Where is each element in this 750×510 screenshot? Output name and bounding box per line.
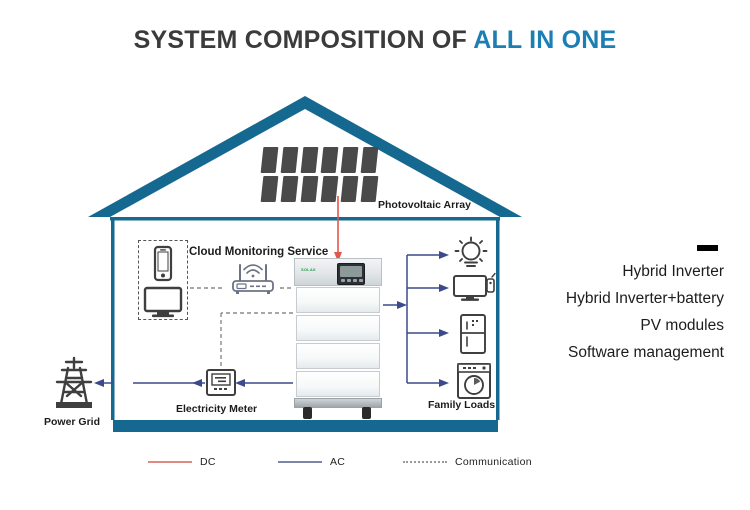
lcd-button[interactable] (347, 279, 351, 282)
monitor-icon (143, 286, 183, 318)
legend-swatch-dc (148, 461, 192, 463)
battery-module (296, 343, 380, 369)
legend-swatch-ac (278, 461, 322, 463)
ac-line-inverter-to-grid (94, 379, 293, 387)
caster-wheel (362, 407, 371, 419)
feature-list-item: Software management (464, 339, 724, 366)
feature-list-item: Hybrid Inverter (464, 258, 724, 285)
lcd-screen (340, 266, 362, 277)
pv-panel (321, 147, 339, 173)
pv-row-1 (262, 147, 387, 173)
pv-panel (281, 147, 299, 173)
house-and-wiring-layer (0, 0, 750, 510)
hybrid-inverter-battery-stack: SOLAX (294, 258, 382, 410)
legend-item-dc: DC (148, 452, 216, 472)
pv-panel (301, 147, 319, 173)
lcd-buttons (341, 279, 363, 282)
power-grid-label: Power Grid (44, 416, 100, 428)
pv-panel (361, 147, 379, 173)
house-floor (113, 420, 498, 432)
transmission-tower-icon (48, 356, 100, 412)
inverter-lcd-display (337, 263, 365, 285)
feature-list-item: Hybrid Inverter+battery (464, 285, 724, 312)
pv-panel (261, 176, 279, 202)
pv-panel (361, 176, 379, 202)
legend-label-dc: DC (200, 456, 216, 468)
battery-module (296, 371, 380, 397)
pv-row-2 (262, 176, 387, 202)
pv-panel (341, 176, 359, 202)
diagram-canvas: SYSTEM COMPOSITION OF ALL IN ONE (0, 0, 750, 510)
feature-list-item: PV modules (464, 312, 724, 339)
caster-wheel (303, 407, 312, 419)
legend-label-ac: AC (330, 456, 345, 468)
pv-panel (341, 147, 359, 173)
lcd-button[interactable] (353, 279, 357, 282)
house-ceiling (110, 217, 500, 221)
smartphone-icon (148, 246, 178, 282)
brand-logo: SOLAX (301, 267, 316, 272)
legend-item-communication: Communication (403, 452, 532, 472)
feature-list-dash-marker (697, 245, 718, 251)
legend-label-communication: Communication (455, 456, 532, 468)
legend-item-ac: AC (278, 452, 345, 472)
washing-machine-icon (456, 362, 492, 400)
ac-lines-loads (383, 251, 449, 387)
battery-module (296, 315, 380, 341)
lcd-button[interactable] (359, 279, 363, 282)
family-loads-label: Family Loads (428, 399, 495, 411)
cloud-monitoring-label: Cloud Monitoring Service (189, 246, 328, 258)
wifi-router-icon (226, 259, 280, 297)
house-wall-left (111, 220, 115, 420)
communication-lines (190, 288, 293, 368)
battery-module (296, 287, 380, 313)
pv-panel (301, 176, 319, 202)
electricity-meter-icon (205, 368, 237, 398)
photovoltaic-array (262, 147, 387, 202)
pv-panel (261, 147, 279, 173)
electricity-meter-label: Electricity Meter (176, 403, 257, 415)
pv-panel (281, 176, 299, 202)
hybrid-inverter-unit: SOLAX (294, 258, 382, 286)
lcd-button[interactable] (341, 279, 345, 282)
legend: DC AC Communication (148, 452, 548, 472)
pv-panel (321, 176, 339, 202)
feature-list: Hybrid Inverter Hybrid Inverter+battery … (464, 258, 724, 366)
dc-line-pv-to-inverter (334, 196, 342, 262)
photovoltaic-array-label: Photovoltaic Array (378, 199, 471, 211)
legend-swatch-communication (403, 461, 447, 463)
